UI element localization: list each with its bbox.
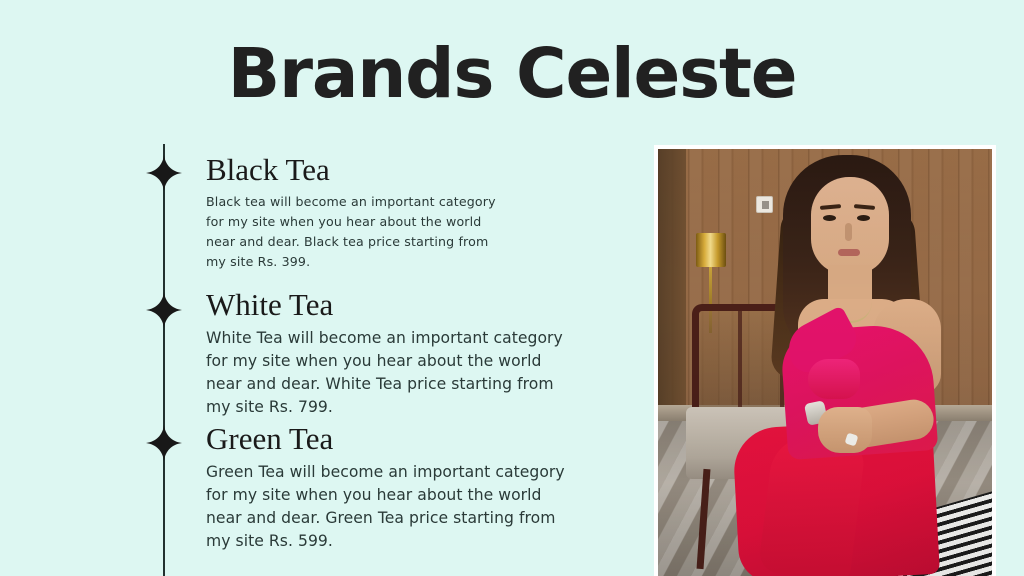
list-item: Green Tea Green Tea will become an impor…: [206, 423, 578, 554]
eye: [857, 215, 870, 221]
photo-frame: [654, 145, 996, 576]
eye: [823, 215, 836, 221]
four-point-sparkle-icon: [146, 155, 182, 191]
wall-shadow: [658, 149, 686, 449]
item-heading: Green Tea: [206, 423, 578, 456]
chair-slat: [738, 311, 742, 409]
item-heading: White Tea: [206, 289, 578, 322]
mouth: [838, 249, 860, 256]
dress-knot: [808, 359, 860, 399]
list-item: White Tea White Tea will become an impor…: [206, 289, 578, 420]
brass-sconce: [696, 233, 726, 267]
sparkle-rail: [152, 140, 176, 576]
slide-canvas: Brands Celeste Black Tea Bla: [0, 0, 1024, 576]
nose: [845, 223, 852, 241]
hand: [818, 407, 872, 453]
four-point-sparkle-icon: [146, 425, 182, 461]
item-body: Green Tea will become an important categ…: [206, 461, 578, 554]
woman-in-pink-dress-photo: [658, 149, 992, 576]
item-heading: Black Tea: [206, 154, 506, 187]
page-title: Brands Celeste: [0, 40, 1024, 109]
rail-line: [163, 144, 165, 576]
light-switch: [756, 196, 773, 213]
tea-list: Black Tea Black tea will become an impor…: [0, 140, 640, 576]
item-body: White Tea will become an important categ…: [206, 327, 578, 420]
item-body: Black tea will become an important categ…: [206, 192, 506, 272]
four-point-sparkle-icon: [146, 292, 182, 328]
list-item: Black Tea Black tea will become an impor…: [206, 154, 506, 272]
